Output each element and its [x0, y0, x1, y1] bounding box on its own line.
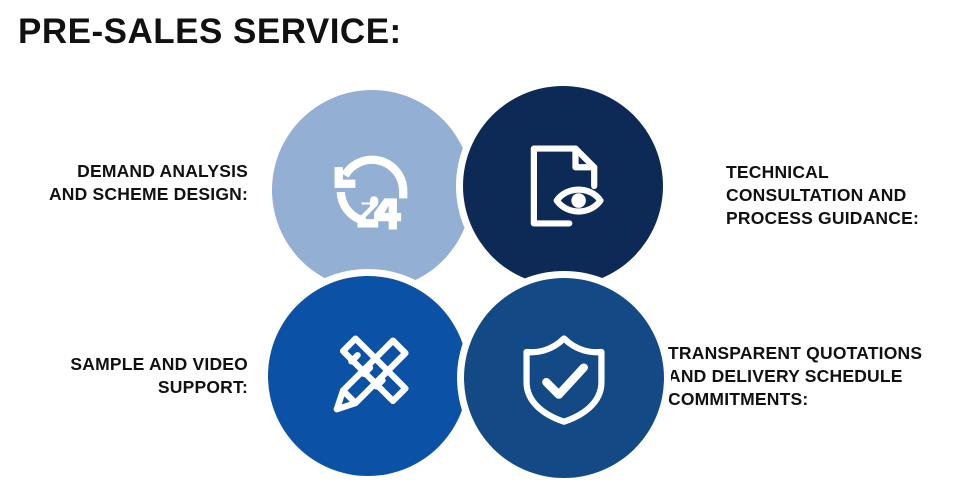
- label-line: CONSULTATION AND: [726, 184, 956, 207]
- circle-transparent-quotations[interactable]: [464, 278, 664, 478]
- document-eye-icon: [511, 134, 615, 238]
- label-transparent-quotations: TRANSPARENT QUOTATIONS AND DELIVERY SCHE…: [668, 342, 960, 411]
- label-sample-video-support: SAMPLE AND VIDEO SUPPORT:: [0, 353, 248, 399]
- label-demand-analysis: DEMAND ANALYSIS AND SCHEME DESIGN:: [0, 160, 248, 206]
- label-line: DEMAND ANALYSIS: [0, 160, 248, 183]
- label-line: AND DELIVERY SCHEDULE: [668, 365, 960, 388]
- label-line: TECHNICAL: [726, 161, 956, 184]
- circle-demand-analysis[interactable]: [272, 90, 472, 290]
- label-technical-consultation: TECHNICAL CONSULTATION AND PROCESS GUIDA…: [726, 161, 956, 230]
- label-line: AND SCHEME DESIGN:: [0, 183, 248, 206]
- circle-technical-consultation[interactable]: [463, 86, 663, 286]
- circle-cluster: [268, 86, 668, 482]
- label-line: SUPPORT:: [0, 376, 248, 399]
- label-line: SAMPLE AND VIDEO: [0, 353, 248, 376]
- page-title: PRE-SALES SERVICE:: [18, 12, 402, 52]
- label-line: TRANSPARENT QUOTATIONS: [668, 342, 960, 365]
- 24-hour-rotate-icon: [320, 138, 424, 242]
- infographic-page: PRE-SALES SERVICE:: [0, 0, 960, 498]
- label-line: PROCESS GUIDANCE:: [726, 207, 956, 230]
- shield-check-icon: [512, 326, 616, 430]
- circle-sample-video-support[interactable]: [268, 276, 468, 476]
- pencil-ruler-icon: [316, 324, 420, 428]
- label-line: COMMITMENTS:: [668, 388, 960, 411]
